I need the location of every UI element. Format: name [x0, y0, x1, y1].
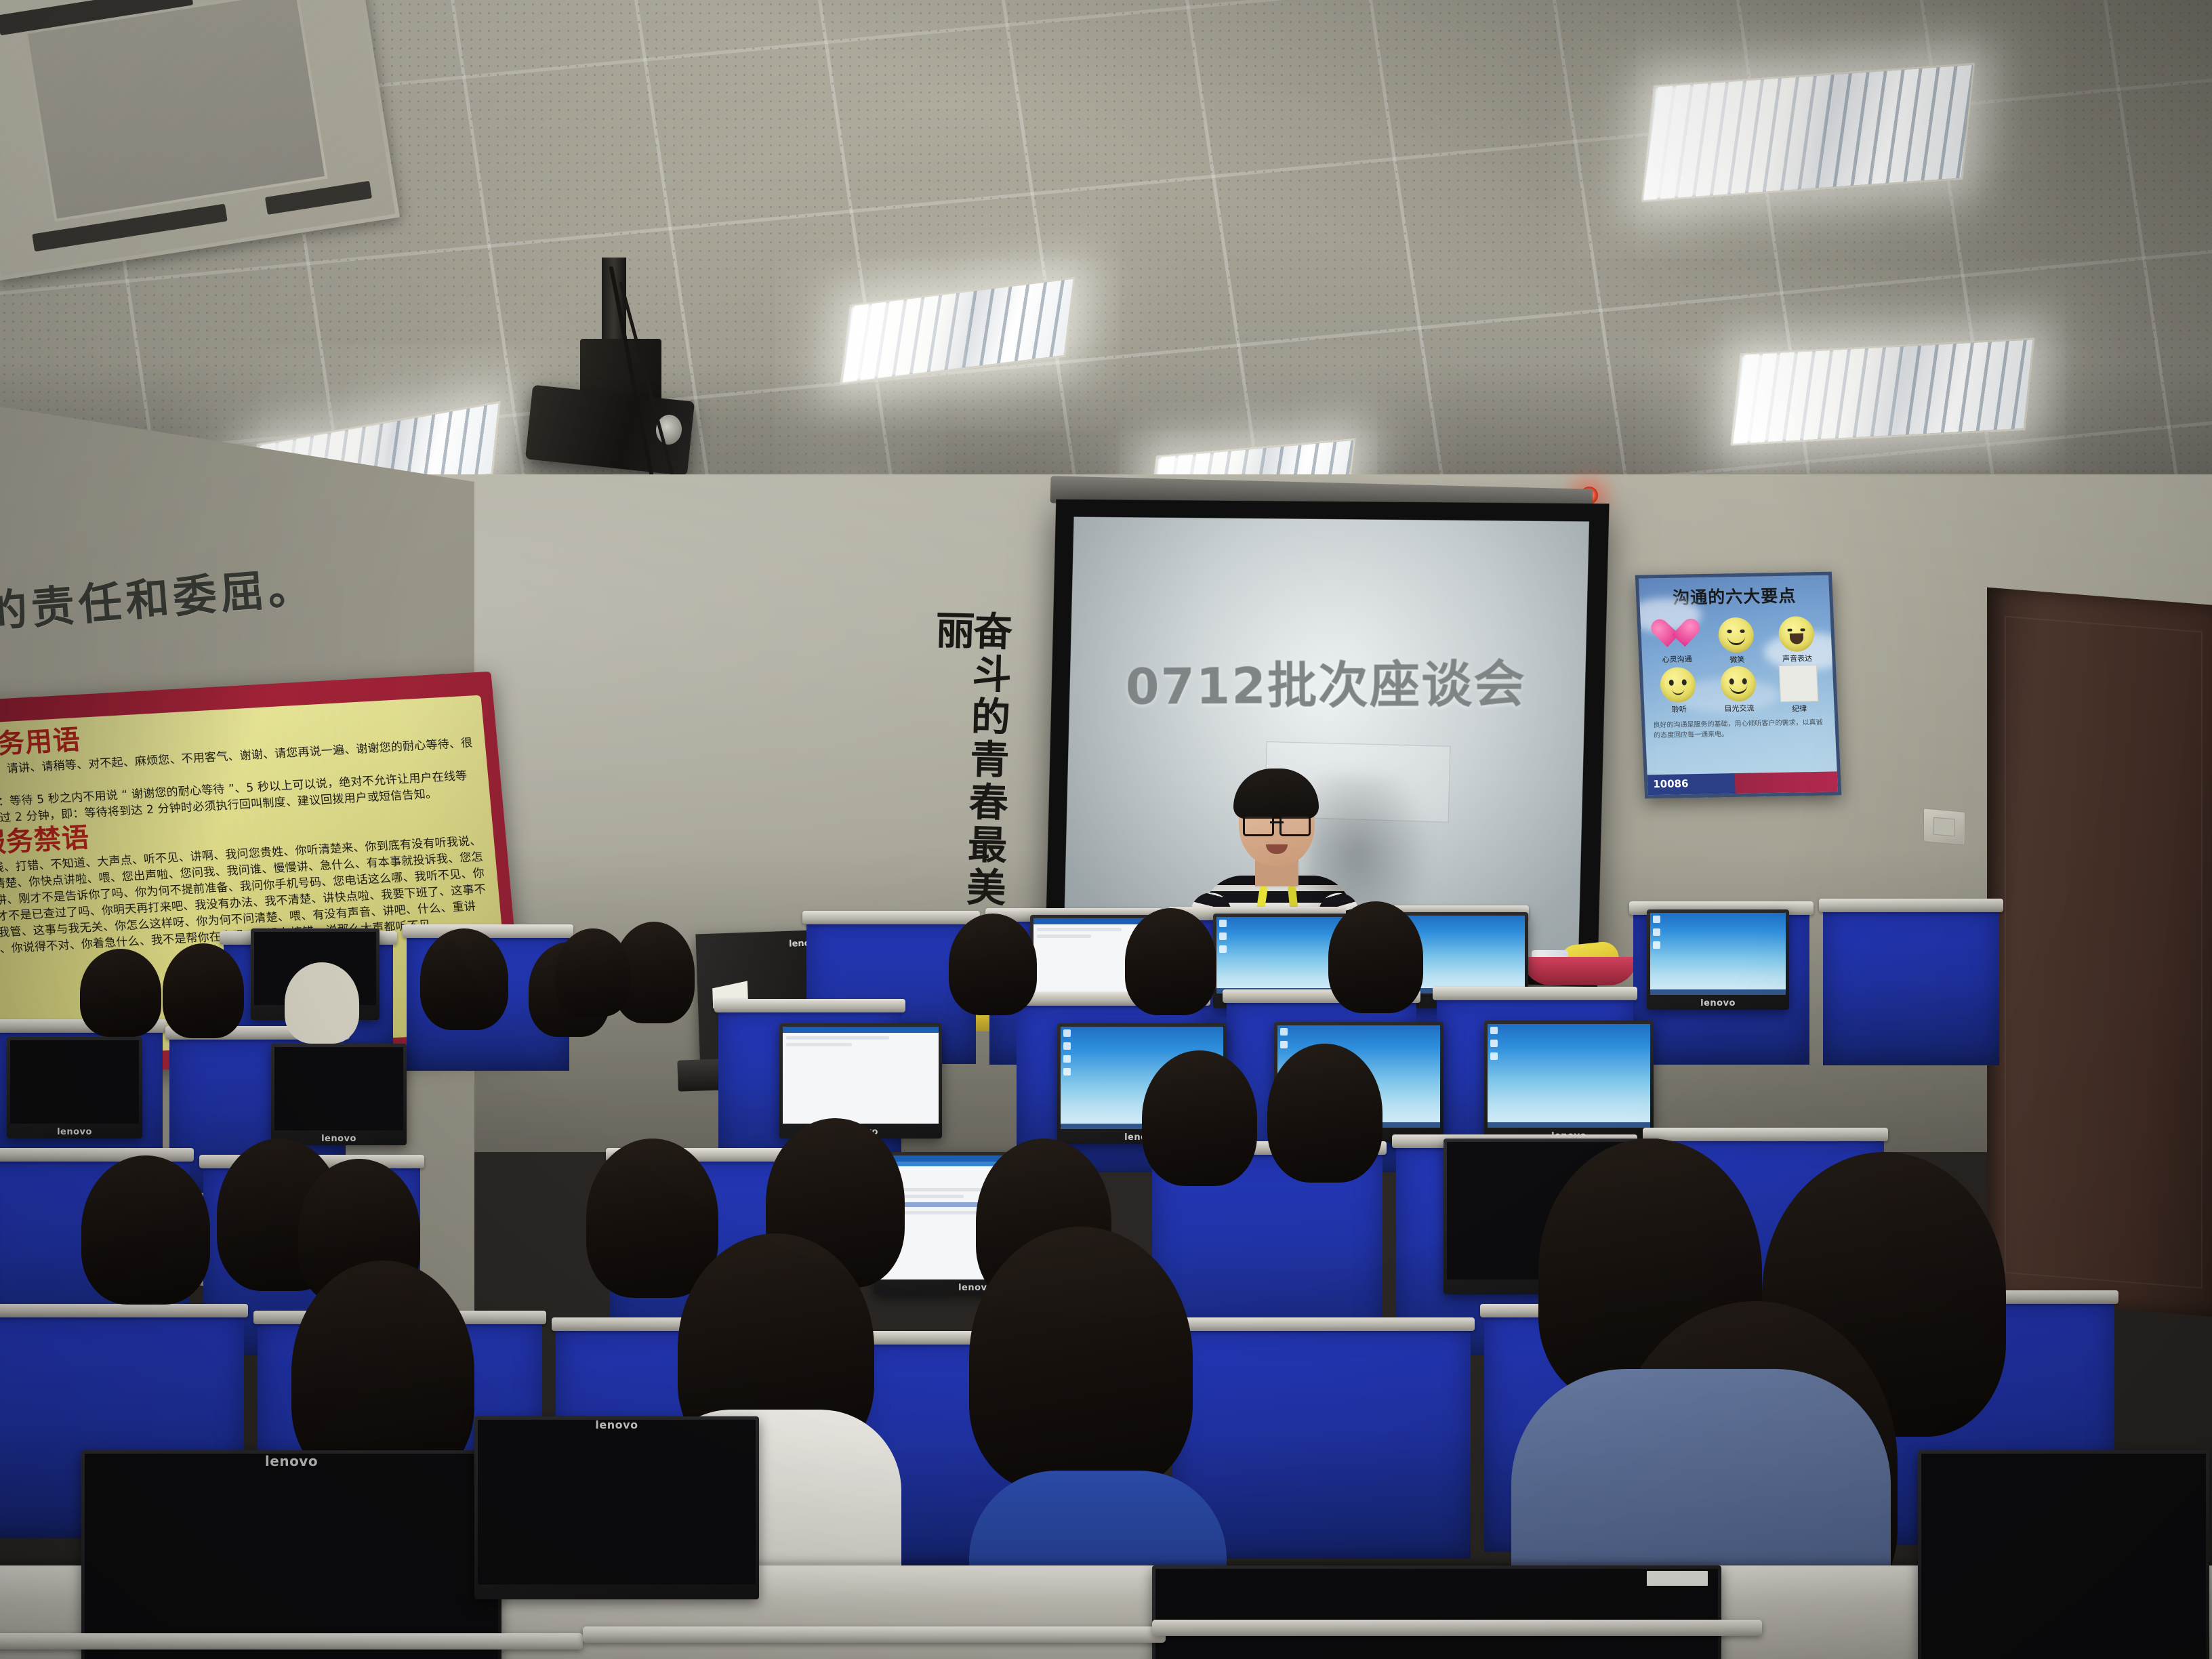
speaking-face-icon [1778, 616, 1814, 652]
asset-sticker [1647, 1571, 1708, 1586]
audience-person [80, 949, 161, 1037]
foreground-monitor[interactable] [1152, 1565, 1721, 1659]
workstation-monitor[interactable]: lenovo [1647, 909, 1789, 1010]
poster-right-footer: 10086 [1647, 771, 1838, 795]
foreground-monitor[interactable]: lenovo [474, 1416, 759, 1599]
communication-item-label: 目光交流 [1710, 702, 1769, 714]
poster-footer-brand: 10086 [1647, 774, 1689, 790]
communication-item: 目光交流 [1708, 665, 1769, 715]
cubicle-workstation-area: lenovo lenovo lenovo lenovo lenovo lenov… [0, 935, 2212, 1659]
foreground-monitor[interactable] [1918, 1450, 2209, 1659]
light-switch[interactable] [1923, 808, 1965, 845]
workstation-monitor[interactable]: lenovo [271, 1044, 407, 1145]
poster-right-body: 良好的沟通是服务的基础，用心倾听客户的需求，以真诚的态度回应每一通来电。 [1645, 714, 1836, 745]
listening-face-icon [1660, 667, 1696, 703]
audience-person [1125, 908, 1216, 1015]
blank-card-icon [1778, 665, 1818, 702]
presenter-hair [1233, 769, 1319, 819]
audience-person [1142, 1050, 1257, 1186]
heart-icon [1659, 619, 1693, 650]
audience-person [1267, 1044, 1382, 1183]
communication-item: 声音表达 [1766, 616, 1827, 664]
audience-person [420, 928, 508, 1030]
workstation-monitor[interactable]: lenovo [7, 1037, 142, 1139]
training-room-photo: 的责任和委屈。 服务用语 请问、请讲、请稍等、对不起、麻烦您、不用客气、谢谢、请… [0, 0, 2212, 1659]
communication-item-label: 微笑 [1708, 653, 1767, 665]
cubicle-partition [1823, 909, 1999, 1065]
smiling-face-icon [1718, 617, 1755, 653]
audience-person [81, 1155, 210, 1305]
foreground-monitor[interactable]: lenovo [81, 1450, 501, 1659]
audience-person [163, 943, 244, 1038]
slide-title-text: 0712批次座谈会 [1104, 643, 1549, 719]
ceiling-light-fixture [1730, 337, 2035, 446]
communication-item-label: 声音表达 [1767, 653, 1826, 664]
audience-person [1328, 901, 1423, 1013]
communication-item: 心灵沟通 [1646, 618, 1707, 666]
audience-person-foreground [969, 1227, 1193, 1491]
communication-item: 微笑 [1706, 617, 1767, 665]
audience-person [949, 914, 1037, 1015]
ceiling-projector [515, 258, 718, 488]
smiley-face-icon [1720, 666, 1757, 702]
audience-person [556, 928, 630, 1017]
wall-decal-vertical-text: 奋斗的青春最美丽 [912, 609, 1008, 929]
communication-item-label: 纪律 [1770, 703, 1829, 714]
glasses-icon [1243, 815, 1311, 832]
communication-item-label: 心灵沟通 [1647, 653, 1706, 665]
communication-item-label: 聆听 [1650, 703, 1708, 715]
audience-person [285, 962, 359, 1044]
communication-icon-grid: 心灵沟通 微笑 声音表达 聆 [1641, 616, 1835, 717]
communication-item: 纪律 [1768, 665, 1829, 714]
communication-points-poster: 沟通的六大要点 心灵沟通 微笑 声音表达 [1635, 572, 1841, 799]
communication-item: 聆听 [1648, 667, 1709, 716]
workstation-monitor[interactable]: lenovo [1484, 1021, 1654, 1143]
ceiling-light-fixture [1641, 63, 1975, 203]
